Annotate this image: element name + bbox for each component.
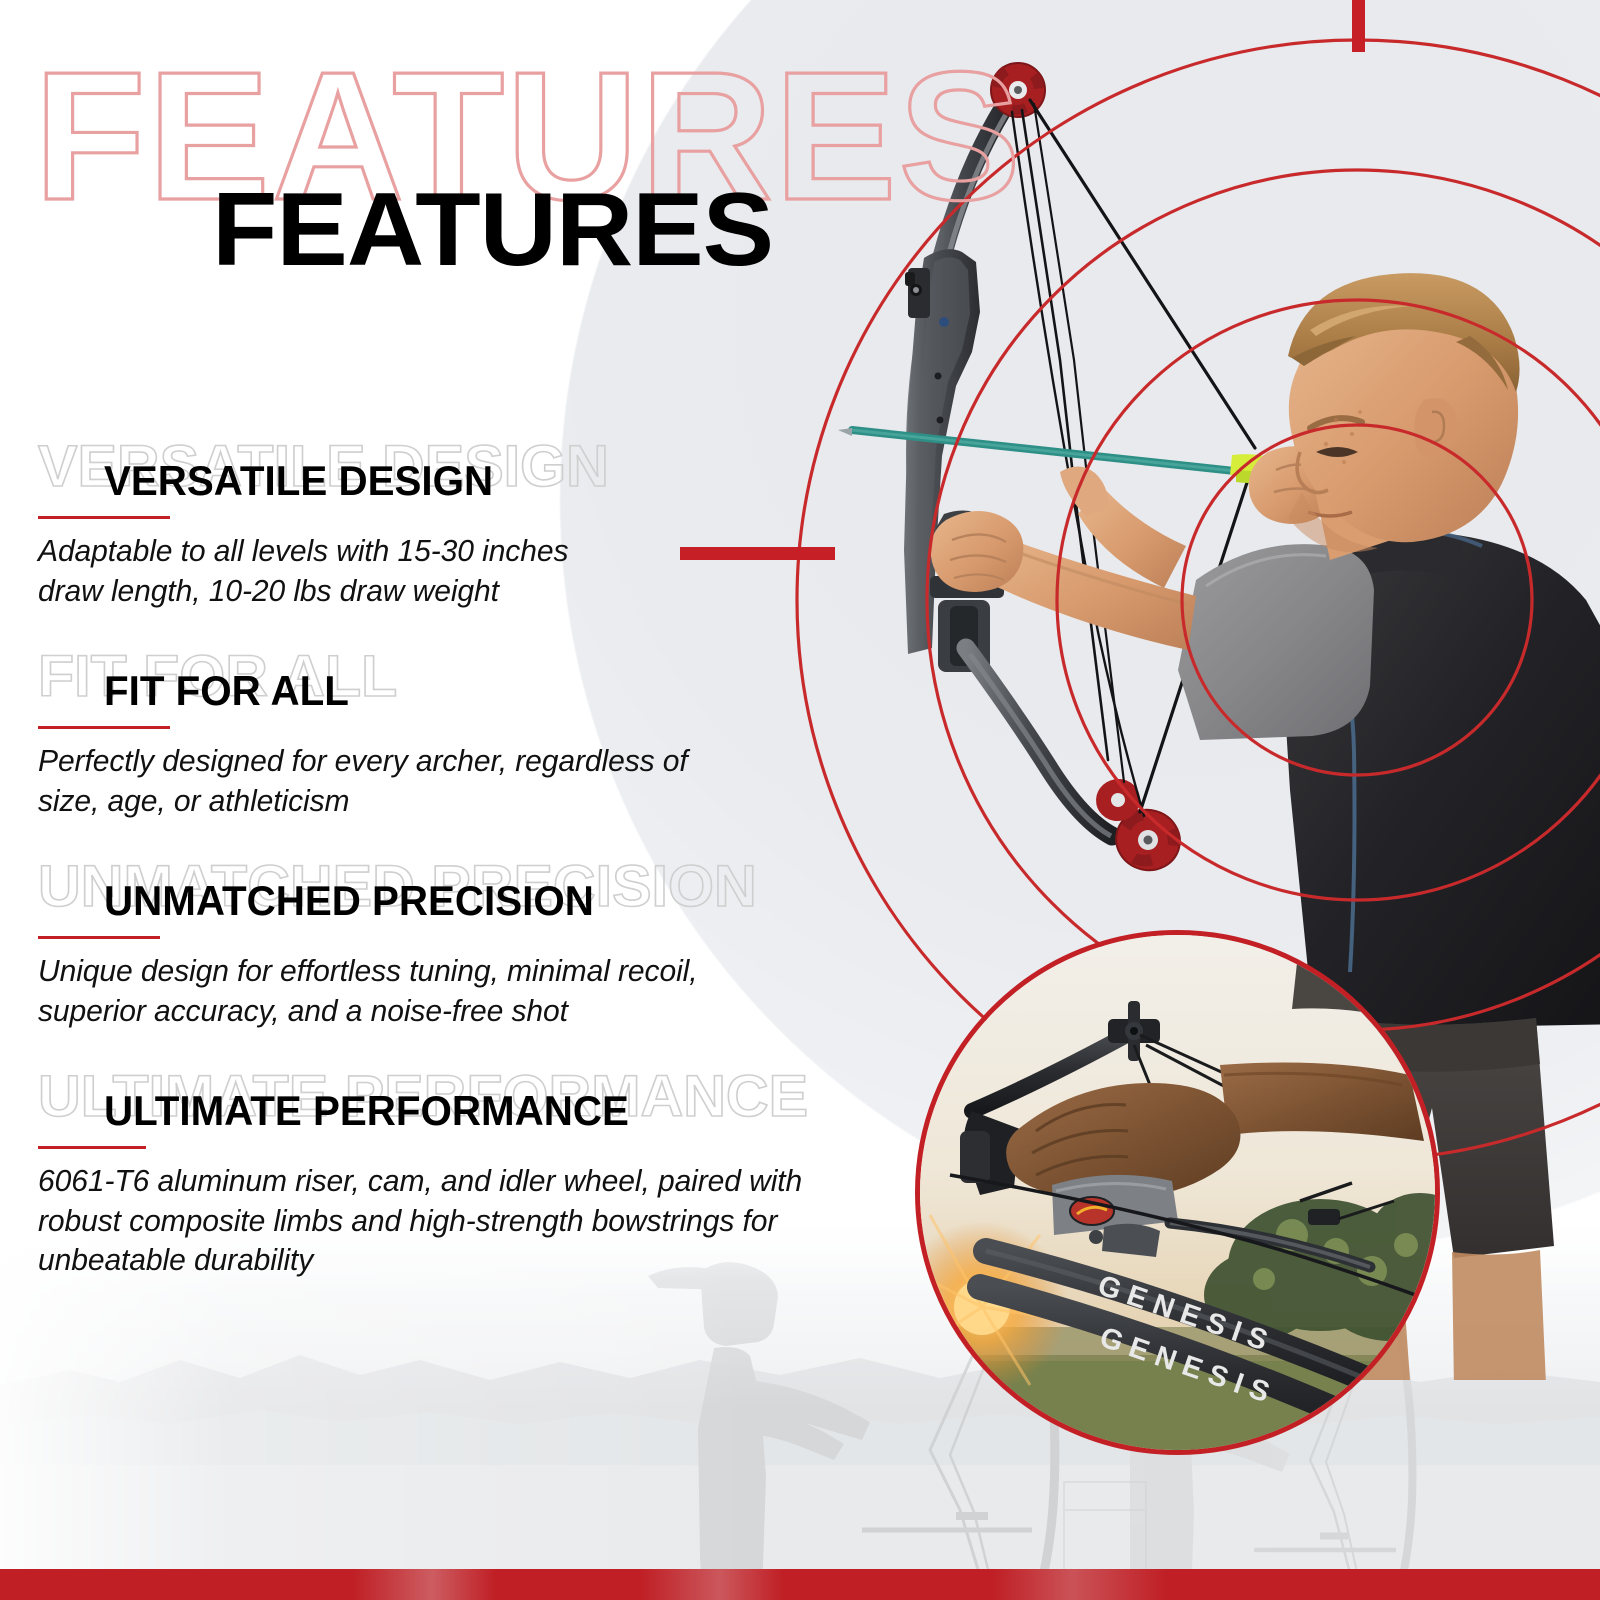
feature-heading: FIT FOR ALL (104, 670, 349, 712)
feature-underline (38, 516, 170, 519)
inset-bow-closeup-photo: GENESIS GENESIS ARCHERY ARCHERY (915, 930, 1440, 1455)
feature-heading: ULTIMATE PERFORMANCE (104, 1090, 629, 1132)
feature-underline (38, 726, 170, 729)
bottom-accent-bar-overlay (0, 1569, 1600, 1600)
feature-body-text: Unique design for effortless tuning, min… (38, 952, 787, 1031)
feature-body-text: Perfectly designed for every archer, reg… (38, 742, 728, 821)
page-title: FEATURES (212, 178, 773, 282)
crosshair-tick-top (1352, 0, 1365, 52)
infographic-canvas: GENESIS GENESIS ARCHERY ARCHERY FEATURES… (0, 0, 1600, 1600)
feature-body-text: Adaptable to all levels with 15-30 inche… (38, 532, 629, 611)
feature-underline (38, 1146, 146, 1149)
feature-underline (38, 936, 160, 939)
feature-heading: VERSATILE DESIGN (104, 460, 493, 502)
feature-body-text: 6061-T6 aluminum riser, cam, and idler w… (38, 1162, 865, 1281)
crosshair-tick-left (680, 547, 835, 560)
feature-heading: UNMATCHED PRECISION (104, 880, 594, 922)
